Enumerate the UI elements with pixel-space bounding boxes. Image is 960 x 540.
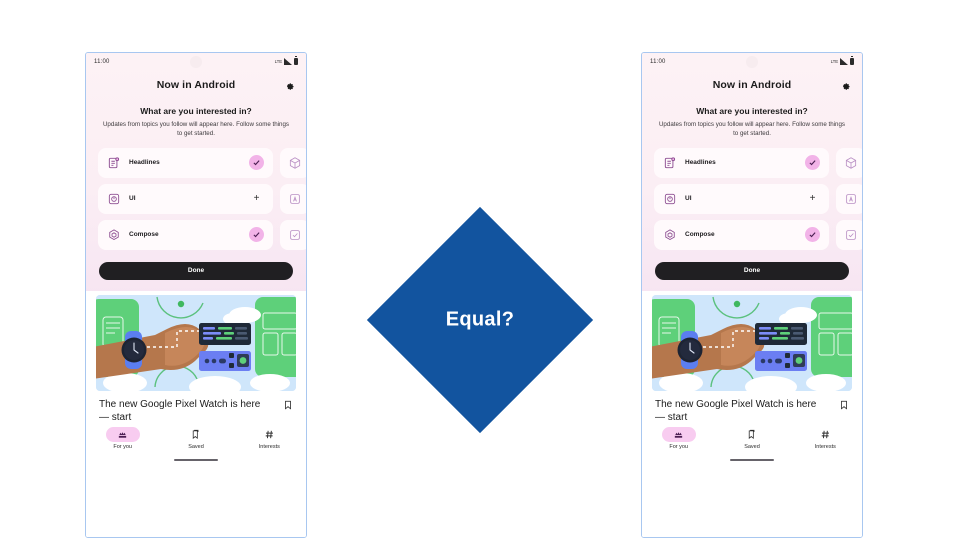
battery-icon bbox=[850, 58, 854, 66]
status-bar: 11:00 LTE bbox=[86, 53, 306, 70]
bottom-navigation: For you Saved bbox=[86, 424, 306, 465]
nav-label: Saved bbox=[188, 444, 204, 450]
article-hero-image bbox=[652, 295, 852, 391]
onboarding-title: What are you interested in? bbox=[100, 106, 292, 116]
bottom-navigation: For you Saved bbox=[642, 424, 862, 465]
topic-check-button[interactable] bbox=[805, 227, 820, 242]
lte-label: LTE bbox=[275, 59, 282, 64]
topic-add-button[interactable]: + bbox=[805, 191, 820, 206]
onboarding-header: What are you interested in? Updates from… bbox=[642, 100, 862, 139]
topic-row: Headlines bbox=[654, 148, 862, 178]
headlines-icon bbox=[663, 156, 677, 170]
side-topic-testing[interactable] bbox=[836, 184, 862, 214]
nav-item-for-you[interactable]: For you bbox=[86, 427, 159, 450]
checkbox-icon bbox=[844, 228, 858, 242]
topic-label: Headlines bbox=[685, 159, 797, 166]
topic-row: Compose bbox=[98, 220, 306, 250]
topic-list: Headlines bbox=[86, 148, 306, 256]
battery-icon bbox=[294, 58, 298, 66]
article-title[interactable]: The new Google Pixel Watch is here — sta… bbox=[99, 398, 293, 424]
cube-icon bbox=[288, 156, 302, 170]
topic-label: Headlines bbox=[129, 159, 241, 166]
side-topic-checkbox[interactable] bbox=[280, 220, 306, 250]
home-indicator bbox=[730, 459, 774, 461]
nav-label: Interests bbox=[259, 444, 280, 450]
side-topic-checkbox[interactable] bbox=[836, 220, 862, 250]
feed-section: The new Google Pixel Watch is here — sta… bbox=[86, 291, 306, 537]
ui-icon bbox=[107, 192, 121, 206]
testing-icon bbox=[844, 192, 858, 206]
camera-punch-hole bbox=[746, 56, 758, 68]
phone-mockup-right: 11:00 LTE Now in Android What are you in… bbox=[641, 52, 863, 538]
status-bar: 11:00 LTE bbox=[642, 53, 862, 70]
app-bar: Now in Android bbox=[86, 70, 306, 100]
testing-icon bbox=[288, 192, 302, 206]
nav-label: For you bbox=[113, 444, 132, 450]
comparison-stage: 11:00 LTE Now in Android What are you in… bbox=[0, 0, 960, 540]
equal-decision-label: Equal? bbox=[446, 309, 514, 332]
topic-card-ui[interactable]: UI + bbox=[654, 184, 829, 214]
lte-label: LTE bbox=[831, 59, 838, 64]
topic-card-headlines[interactable]: Headlines bbox=[98, 148, 273, 178]
nav-item-saved[interactable]: Saved bbox=[715, 427, 788, 450]
onboarding-subtitle: Updates from topics you follow will appe… bbox=[100, 120, 292, 139]
nav-label: Interests bbox=[815, 444, 836, 450]
nav-item-for-you[interactable]: For you bbox=[642, 427, 715, 450]
onboarding-subtitle: Updates from topics you follow will appe… bbox=[656, 120, 848, 139]
onboarding-header: What are you interested in? Updates from… bbox=[86, 100, 306, 139]
done-button[interactable]: Done bbox=[655, 262, 849, 280]
topic-row: UI + bbox=[98, 184, 306, 214]
topic-card-compose[interactable]: Compose bbox=[98, 220, 273, 250]
bookmark-icon[interactable] bbox=[839, 399, 849, 411]
cube-icon bbox=[844, 156, 858, 170]
checkbox-icon bbox=[288, 228, 302, 242]
gear-icon[interactable] bbox=[283, 79, 295, 91]
topic-add-button[interactable]: + bbox=[249, 191, 264, 206]
topic-check-button[interactable] bbox=[249, 227, 264, 242]
topic-check-button[interactable] bbox=[249, 155, 264, 170]
status-icons: LTE bbox=[275, 58, 298, 66]
topic-list: Headlines bbox=[642, 148, 862, 256]
topic-label: UI bbox=[685, 195, 797, 202]
signal-icon bbox=[284, 58, 292, 65]
topic-row: Headlines bbox=[98, 148, 306, 178]
headlines-icon bbox=[107, 156, 121, 170]
nav-item-interests[interactable]: Interests bbox=[233, 427, 306, 450]
page-title: Now in Android bbox=[713, 79, 792, 91]
interests-icon bbox=[252, 427, 286, 442]
page-title: Now in Android bbox=[157, 79, 236, 91]
topic-row: Compose bbox=[654, 220, 862, 250]
phone-mockup-left: 11:00 LTE Now in Android What are you in… bbox=[85, 52, 307, 538]
article-hero-image bbox=[96, 295, 296, 391]
topic-label: UI bbox=[129, 195, 241, 202]
article-title-text: The new Google Pixel Watch is here — sta… bbox=[99, 399, 260, 423]
done-button-wrap: Done bbox=[86, 256, 306, 280]
ui-icon bbox=[663, 192, 677, 206]
article-title[interactable]: The new Google Pixel Watch is here — sta… bbox=[655, 398, 849, 424]
topic-card-compose[interactable]: Compose bbox=[654, 220, 829, 250]
nav-item-saved[interactable]: Saved bbox=[159, 427, 232, 450]
compose-icon bbox=[107, 228, 121, 242]
topic-card-ui[interactable]: UI + bbox=[98, 184, 273, 214]
done-button-wrap: Done bbox=[642, 256, 862, 280]
status-time: 11:00 bbox=[94, 59, 110, 65]
phone-screen: 11:00 LTE Now in Android What are you in… bbox=[642, 53, 862, 537]
camera-punch-hole bbox=[190, 56, 202, 68]
side-topic-cube[interactable] bbox=[836, 148, 862, 178]
onboarding-title: What are you interested in? bbox=[656, 106, 848, 116]
app-bar: Now in Android bbox=[642, 70, 862, 100]
side-topic-testing[interactable] bbox=[280, 184, 306, 214]
status-icons: LTE bbox=[831, 58, 854, 66]
for-you-icon bbox=[662, 427, 696, 442]
topic-check-button[interactable] bbox=[805, 155, 820, 170]
side-topic-cube[interactable] bbox=[280, 148, 306, 178]
nav-label: For you bbox=[669, 444, 688, 450]
saved-icon bbox=[179, 427, 213, 442]
feed-section: The new Google Pixel Watch is here — sta… bbox=[642, 291, 862, 537]
for-you-icon bbox=[106, 427, 140, 442]
status-time: 11:00 bbox=[650, 59, 666, 65]
article-title-text: The new Google Pixel Watch is here — sta… bbox=[655, 399, 816, 423]
topic-row: UI + bbox=[654, 184, 862, 214]
interests-icon bbox=[808, 427, 842, 442]
compose-icon bbox=[663, 228, 677, 242]
saved-icon bbox=[735, 427, 769, 442]
done-button[interactable]: Done bbox=[99, 262, 293, 280]
nav-item-interests[interactable]: Interests bbox=[789, 427, 862, 450]
bookmark-icon[interactable] bbox=[283, 399, 293, 411]
gear-icon[interactable] bbox=[839, 79, 851, 91]
phone-screen: 11:00 LTE Now in Android What are you in… bbox=[86, 53, 306, 537]
topic-label: Compose bbox=[129, 231, 241, 238]
topic-label: Compose bbox=[685, 231, 797, 238]
home-indicator bbox=[174, 459, 218, 461]
signal-icon bbox=[840, 58, 848, 65]
nav-label: Saved bbox=[744, 444, 760, 450]
topic-card-headlines[interactable]: Headlines bbox=[654, 148, 829, 178]
